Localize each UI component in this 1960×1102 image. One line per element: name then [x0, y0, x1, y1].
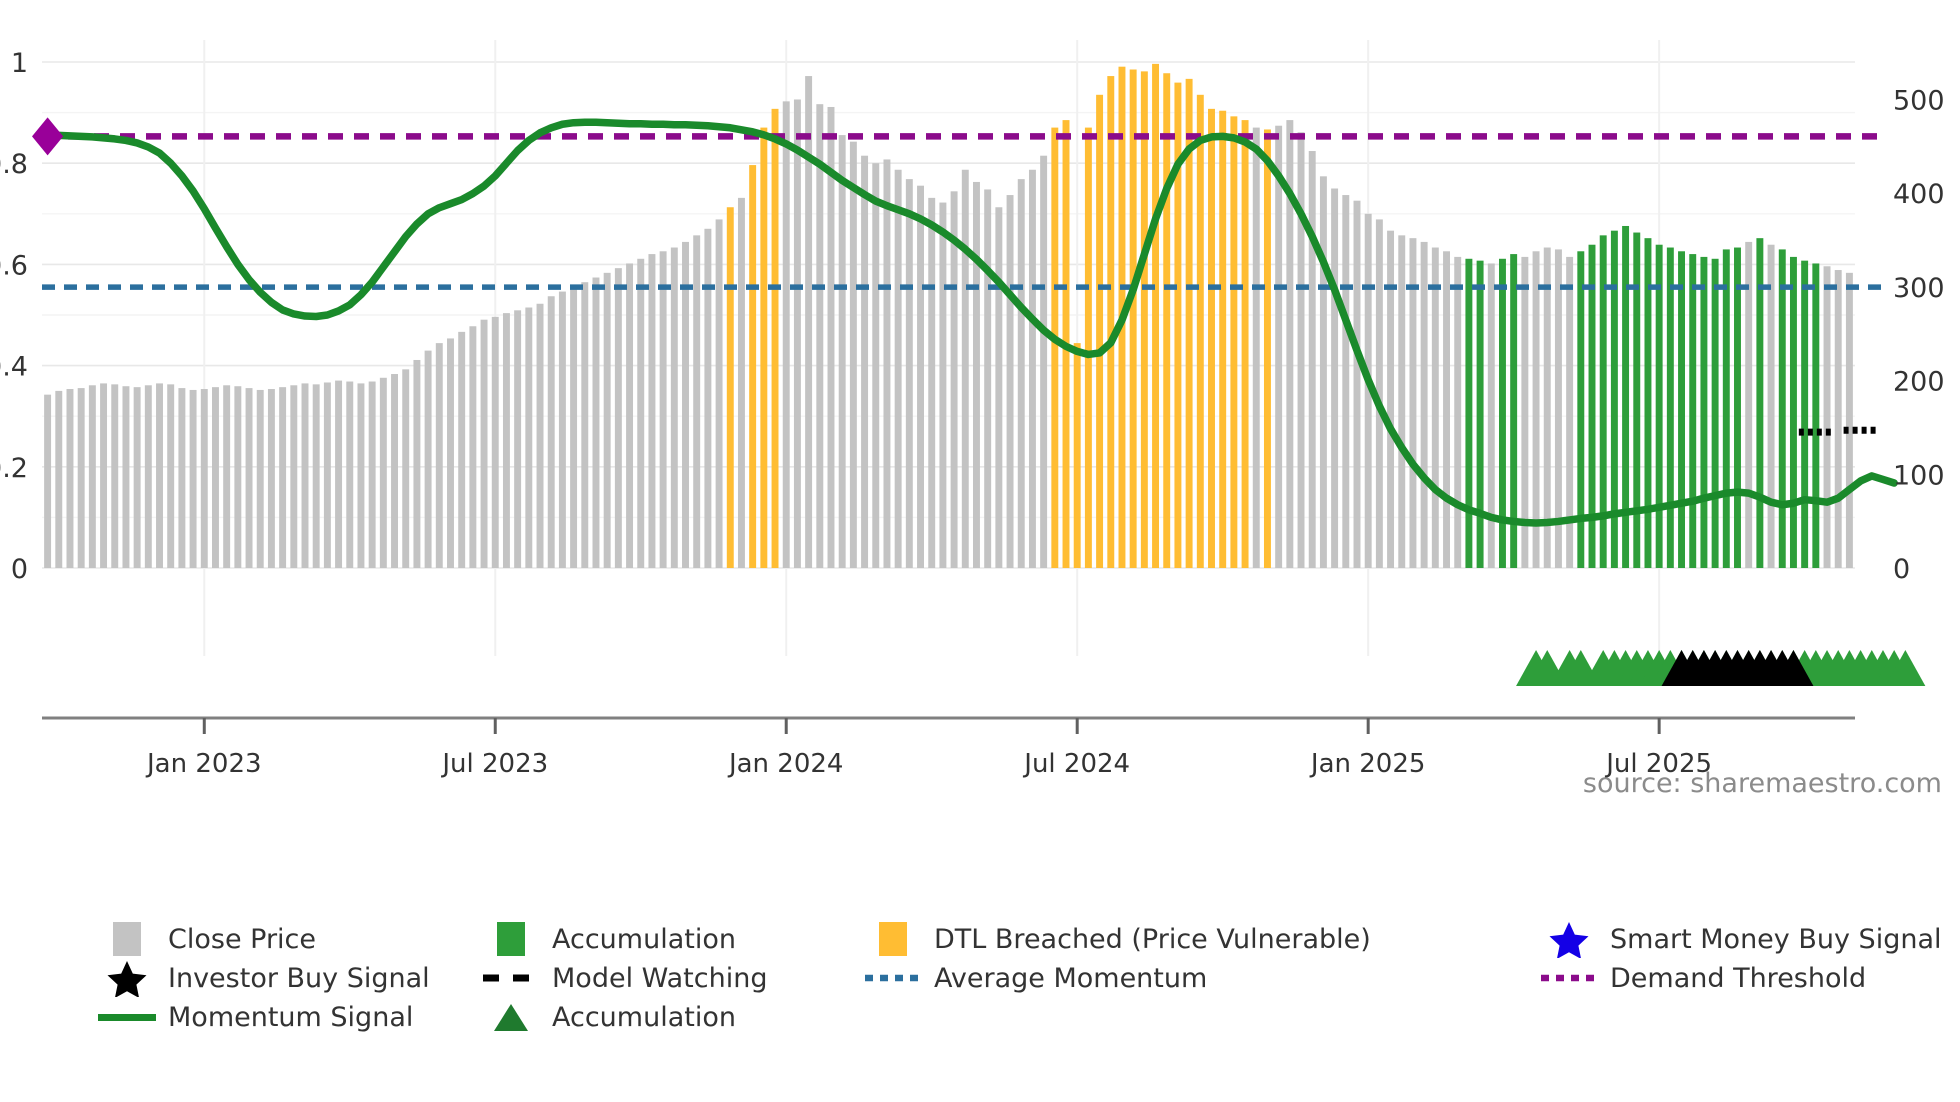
bar-close-price — [425, 351, 432, 568]
y-tick-label-left: 1 — [11, 48, 28, 79]
bar-close-price — [67, 389, 74, 568]
bar-close-price — [447, 338, 454, 568]
bar-close-price — [346, 382, 353, 568]
legend-row: Close PriceAccumulationDTL Breached (Pri… — [0, 920, 1960, 958]
bar-close-price — [626, 263, 633, 568]
bar-close-price — [1242, 120, 1249, 568]
bar-close-price — [503, 313, 510, 568]
momentum-start-marker — [32, 117, 63, 155]
bar-close-price — [1432, 248, 1439, 568]
legend-item-investor-buy-signal[interactable]: Investor Buy Signal — [96, 959, 430, 997]
bar-close-price — [1275, 126, 1282, 568]
bar-close-price — [1622, 226, 1629, 568]
bar-close-price — [1398, 235, 1405, 568]
x-tick-label: Jul 2024 — [1022, 749, 1130, 779]
bar-close-price — [738, 198, 745, 568]
legend-item-label: Close Price — [168, 924, 316, 955]
bar-close-price — [615, 268, 622, 568]
legend-item-label: Model Watching — [552, 963, 767, 994]
x-tick-label: Jul 2023 — [440, 749, 548, 779]
bar-close-price — [872, 163, 879, 568]
y-tick-label-left: 0.6 — [0, 250, 28, 281]
bar-close-price — [1331, 189, 1338, 569]
bar-close-price — [279, 387, 286, 568]
bar-close-price — [1029, 170, 1036, 568]
bar-close-price — [1700, 257, 1707, 568]
swatch-dashed-line — [482, 971, 540, 985]
bar-close-price — [1745, 242, 1752, 568]
bar-close-price — [1141, 71, 1148, 568]
bar-close-price — [794, 99, 801, 568]
solid-line-icon — [96, 998, 158, 1036]
bar-close-price — [1298, 132, 1305, 568]
bar-close-price — [134, 387, 141, 568]
bar-close-price — [850, 142, 857, 568]
legend-item-smart-money-buy-signal[interactable]: Smart Money Buy Signal — [1538, 920, 1942, 958]
legend-item-label: Average Momentum — [934, 963, 1207, 994]
bar-close-price — [883, 159, 890, 568]
star-shape — [108, 961, 147, 997]
bar-close-price — [1768, 245, 1775, 568]
y-tick-label-right: 0 — [1893, 554, 1910, 585]
bar-close-price — [895, 170, 902, 568]
bar-close-price — [78, 388, 85, 568]
y-tick-label-left: 0.2 — [0, 453, 28, 484]
bar-close-price — [984, 189, 991, 568]
bar-close-price — [268, 389, 275, 568]
bar-close-price — [469, 326, 476, 568]
bar-close-price — [1689, 254, 1696, 568]
bar-close-price — [1656, 245, 1663, 568]
bar-close-price — [1230, 116, 1237, 568]
bar-close-price — [89, 385, 96, 568]
bar-close-price — [1734, 248, 1741, 568]
bar-close-price — [1812, 263, 1819, 568]
bar-close-price — [1443, 251, 1450, 568]
bar-close-price — [604, 273, 611, 568]
bar-close-price — [716, 219, 723, 568]
legend-item-label: Momentum Signal — [168, 1002, 413, 1033]
legend-item-close-price[interactable]: Close Price — [96, 920, 316, 958]
chart-svg: Jan 2023Jul 2023Jan 2024Jul 2024Jan 2025… — [0, 0, 1960, 880]
bar-close-price — [436, 343, 443, 568]
bar-close-price — [246, 388, 253, 568]
bar-close-price — [1712, 259, 1719, 568]
chart-plot-area: Jan 2023Jul 2023Jan 2024Jul 2024Jan 2025… — [0, 0, 1960, 880]
legend-item-accumulation[interactable]: Accumulation — [480, 920, 736, 958]
bar-close-price — [1801, 261, 1808, 568]
bar-close-price — [1253, 128, 1260, 568]
swatch-rect — [113, 922, 141, 956]
bar-close-price — [928, 198, 935, 568]
bar-close-price — [1197, 95, 1204, 568]
legend-row: Investor Buy SignalModel WatchingAverage… — [0, 959, 1960, 997]
bar-close-price — [481, 320, 488, 568]
y-tick-label-left: 0.8 — [0, 149, 28, 180]
bar-close-price — [111, 384, 118, 568]
bar-close-price — [548, 296, 555, 568]
source-attribution: source: sharemaestro.com — [1583, 768, 1942, 799]
bar-close-price — [839, 135, 846, 568]
bar-close-price — [995, 207, 1002, 568]
bar-close-price — [648, 254, 655, 568]
y-tick-label-right: 200 — [1893, 367, 1945, 398]
bar-close-price — [1454, 257, 1461, 568]
legend-row: Momentum SignalAccumulation — [0, 998, 1960, 1036]
bar-close-price — [1779, 249, 1786, 568]
bar-close-price — [1465, 259, 1472, 568]
bar-close-price — [906, 179, 913, 568]
bar-close-price — [693, 235, 700, 568]
square-swatch-icon — [96, 920, 158, 958]
bar-close-price — [1824, 266, 1831, 568]
legend-item-label: DTL Breached (Price Vulnerable) — [934, 924, 1371, 955]
bar-close-price — [1846, 273, 1853, 568]
swatch-star — [1549, 920, 1589, 958]
triangle-shape — [494, 1004, 528, 1031]
bar-close-price — [44, 395, 51, 568]
bar-close-price — [1096, 95, 1103, 568]
bar-close-price — [156, 383, 163, 568]
y-tick-label-right: 500 — [1893, 85, 1945, 116]
bar-close-price — [1208, 109, 1215, 568]
y-tick-label-left: 0.4 — [0, 352, 28, 383]
accumulation-markers-group — [1516, 650, 1925, 686]
bar-close-price — [201, 389, 208, 568]
bar-close-price — [973, 182, 980, 568]
bar-close-price — [357, 383, 364, 568]
bar-close-price — [581, 282, 588, 568]
bar-close-price — [593, 278, 600, 568]
bar-close-price — [570, 287, 577, 568]
legend-item-model-watching[interactable]: Model Watching — [480, 959, 767, 997]
bar-close-price — [1488, 263, 1495, 568]
bar-close-price — [234, 386, 241, 568]
bar-close-price — [1320, 176, 1327, 568]
bar-close-price — [1309, 151, 1316, 568]
bar-close-price — [1163, 73, 1170, 568]
bar-close-price — [492, 317, 499, 568]
swatch-triangle — [492, 1001, 530, 1033]
bar-close-price — [805, 76, 812, 568]
bar-close-price — [302, 383, 309, 568]
bar-close-price — [1835, 270, 1842, 568]
bar-close-price — [537, 304, 544, 568]
bar-close-price — [525, 308, 532, 569]
y-tick-label-left: 0 — [11, 554, 28, 585]
bar-close-price — [1667, 248, 1674, 568]
bar-close-price — [671, 248, 678, 568]
bar-close-price — [772, 109, 779, 568]
swatch-dotted-line — [1540, 971, 1598, 985]
bar-close-price — [1678, 251, 1685, 568]
swatch-rect — [497, 922, 525, 956]
square-swatch-icon — [480, 920, 542, 958]
bar-close-price — [637, 259, 644, 568]
legend-item-label: Accumulation — [552, 1002, 736, 1033]
bar-close-price — [122, 386, 129, 568]
bar-close-price — [1040, 156, 1047, 568]
bar-close-price — [727, 207, 734, 568]
bar-close-price — [257, 390, 264, 568]
bar-close-price — [458, 332, 465, 568]
bar-close-price — [917, 186, 924, 568]
bar-close-price — [178, 388, 185, 568]
bar-close-price — [1723, 249, 1730, 568]
dotted-line-icon — [1538, 959, 1600, 997]
bar-close-price — [145, 385, 152, 568]
legend-item-label: Smart Money Buy Signal — [1610, 924, 1942, 955]
bar-close-price — [1152, 64, 1159, 568]
bar-close-price — [939, 203, 946, 568]
bar-close-price — [212, 387, 219, 568]
bar-close-price — [1421, 242, 1428, 568]
bar-close-price — [391, 374, 398, 568]
x-tick-label: Jan 2023 — [145, 749, 262, 779]
bar-close-price — [313, 384, 320, 568]
bar-close-price — [1790, 257, 1797, 568]
x-tick-label: Jan 2024 — [727, 749, 844, 779]
bar-close-price — [1085, 128, 1092, 568]
swatch-star — [107, 959, 147, 997]
bar-close-price — [55, 391, 62, 568]
legend-item-demand-threshold[interactable]: Demand Threshold — [1538, 959, 1866, 997]
bar-close-price — [380, 378, 387, 568]
legend-item-average-momentum[interactable]: Average Momentum — [862, 959, 1207, 997]
bar-close-price — [190, 390, 197, 568]
bar-close-price — [1477, 261, 1484, 568]
star-icon — [96, 959, 158, 997]
bar-close-price — [1342, 195, 1349, 568]
square-swatch-icon — [862, 920, 924, 958]
legend-item-dtl-breached-price-vulnerable[interactable]: DTL Breached (Price Vulnerable) — [862, 920, 1371, 958]
bar-close-price — [167, 384, 174, 568]
bar-close-price — [1130, 70, 1137, 569]
bar-close-price — [1074, 343, 1081, 568]
dashed-line-icon — [480, 959, 542, 997]
bar-close-price — [559, 292, 566, 568]
bar-close-price — [962, 170, 969, 568]
bar-close-price — [290, 385, 297, 568]
bar-close-price — [760, 128, 767, 568]
bar-close-price — [324, 382, 331, 568]
swatch-solid-line — [98, 1014, 156, 1021]
bar-close-price — [514, 310, 521, 568]
star-icon — [1538, 920, 1600, 958]
legend-item-accumulation[interactable]: Accumulation — [480, 998, 736, 1036]
bar-close-price — [1107, 76, 1114, 568]
y-tick-label-right: 100 — [1893, 460, 1945, 491]
bar-close-price — [951, 191, 958, 568]
star-shape — [1550, 922, 1589, 958]
chart-page: Jan 2023Jul 2023Jan 2024Jul 2024Jan 2025… — [0, 0, 1960, 1102]
bar-close-price — [369, 382, 376, 568]
bar-close-price — [1354, 201, 1361, 568]
chart-legend: Close PriceAccumulationDTL Breached (Pri… — [0, 920, 1960, 1080]
bar-close-price — [861, 156, 868, 568]
bar-close-price — [1007, 195, 1014, 568]
bar-close-price — [223, 385, 230, 568]
bar-close-price — [1051, 128, 1058, 568]
bar-close-price — [1633, 233, 1640, 568]
bar-close-price — [749, 165, 756, 568]
bar-close-price — [1264, 129, 1271, 568]
bar-close-price — [1387, 231, 1394, 568]
y-tick-label-right: 400 — [1893, 179, 1945, 210]
swatch-dotted-line — [864, 971, 922, 985]
legend-item-label: Demand Threshold — [1610, 963, 1866, 994]
dotted-line-icon — [862, 959, 924, 997]
swatch-rect — [879, 922, 907, 956]
y-tick-label-right: 300 — [1893, 273, 1945, 304]
x-tick-label: Jan 2025 — [1309, 749, 1426, 779]
bar-close-price — [1219, 111, 1226, 568]
bar-close-price — [816, 104, 823, 568]
legend-item-label: Investor Buy Signal — [168, 963, 430, 994]
bar-close-price — [100, 383, 107, 568]
bar-close-price — [682, 242, 689, 568]
legend-item-label: Accumulation — [552, 924, 736, 955]
bar-close-price — [335, 381, 342, 568]
triangle-icon — [480, 998, 542, 1036]
legend-item-momentum-signal[interactable]: Momentum Signal — [96, 998, 413, 1036]
bar-close-price — [402, 369, 409, 568]
bar-close-price — [1018, 179, 1025, 568]
bar-close-price — [660, 251, 667, 568]
bar-close-price — [413, 360, 420, 568]
bar-close-price — [704, 229, 711, 568]
bar-close-price — [783, 101, 790, 568]
